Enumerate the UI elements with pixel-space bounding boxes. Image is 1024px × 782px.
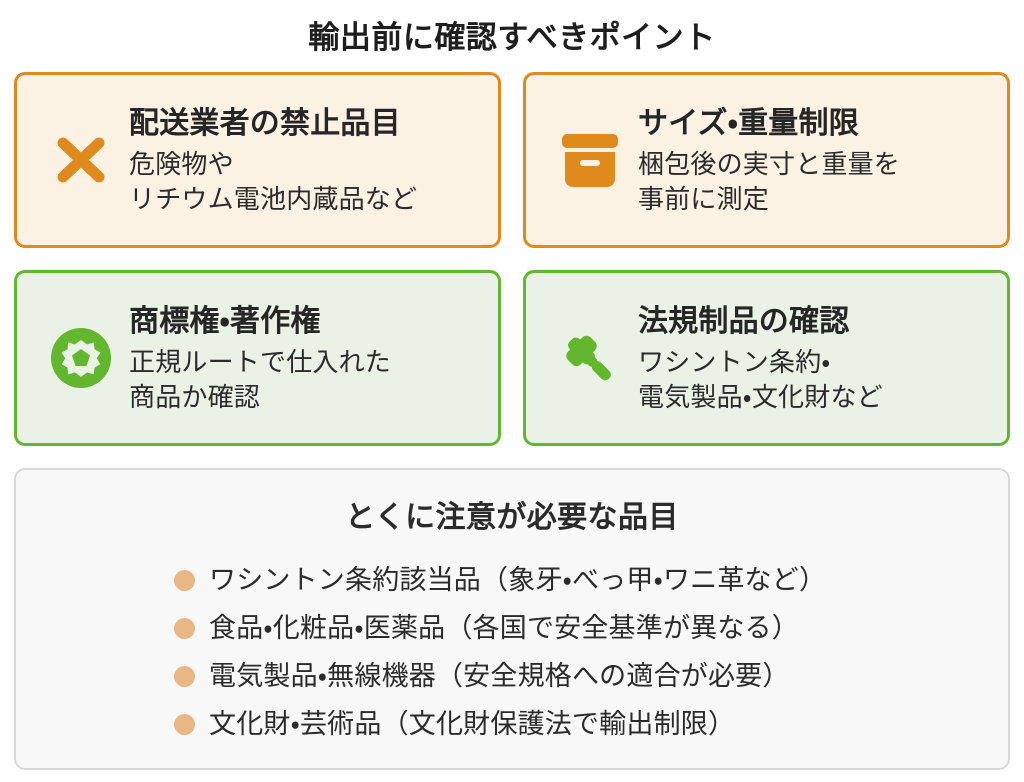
- card-body-line-2: 商品か確認: [129, 380, 480, 415]
- card-trademark-copyright: 商標権・著作権 正規ルートで仕入れた 商品か確認: [14, 270, 501, 446]
- card-body-line-2: 事前に測定: [638, 182, 989, 217]
- card-prohibited-items: 配送業者の禁止品目 危険物や リチウム電池内蔵品など: [14, 72, 501, 248]
- card-text: 商標権・著作権 正規ルートで仕入れた 商品か確認: [129, 301, 480, 415]
- bullet-dot-icon: [174, 570, 195, 591]
- list-item-label: 文化財・芸術品（文化財保護法で輸出制限）: [209, 708, 735, 740]
- card-title: 法規制品の確認: [638, 303, 989, 341]
- card-body-line-1: ワシントン条約・: [638, 345, 989, 380]
- bullet-dot-icon: [174, 618, 195, 639]
- gear-circle-icon: [33, 310, 129, 406]
- list-item: 文化財・芸術品（文化財保護法で輸出制限）: [174, 700, 988, 748]
- bullet-dot-icon: [174, 714, 195, 735]
- card-text: 配送業者の禁止品目 危険物や リチウム電池内蔵品など: [129, 103, 480, 217]
- list-item-label: 電気製品・無線機器（安全規格への適合が必要）: [209, 660, 790, 692]
- list-item: 電気製品・無線機器（安全規格への適合が必要）: [174, 652, 988, 700]
- card-title: 配送業者の禁止品目: [129, 105, 480, 143]
- card-regulated-products: 法規制品の確認 ワシントン条約・ 電気製品・文化財など: [523, 270, 1010, 446]
- notice-item-list: ワシントン条約該当品（象牙・べっ甲・ワニ革など） 食品・化粧品・医薬品（各国で安…: [36, 556, 988, 748]
- cross-mark-icon: [33, 112, 129, 208]
- list-item-label: 食品・化粧品・医薬品（各国で安全基準が異なる）: [209, 612, 799, 644]
- box-archive-icon: [542, 112, 638, 208]
- checkpoint-card-grid: 配送業者の禁止品目 危険物や リチウム電池内蔵品など サイズ・重量制限 梱包後の…: [14, 72, 1010, 446]
- infographic-page: 輸出前に確認すべきポイント 配送業者の禁止品目 危険物や リチウム電池内蔵品など: [0, 0, 1024, 782]
- card-body-line-2: 電気製品・文化財など: [638, 380, 989, 415]
- card-text: 法規制品の確認 ワシントン条約・ 電気製品・文化財など: [638, 301, 989, 415]
- special-attention-panel: とくに注意が必要な品目 ワシントン条約該当品（象牙・べっ甲・ワニ革など） 食品・…: [14, 468, 1010, 770]
- card-title: サイズ・重量制限: [638, 105, 989, 143]
- page-title: 輸出前に確認すべきポイント: [14, 0, 1010, 62]
- notice-panel-heading: とくに注意が必要な品目: [36, 492, 988, 536]
- list-item: ワシントン条約該当品（象牙・べっ甲・ワニ革など）: [174, 556, 988, 604]
- list-item: 食品・化粧品・医薬品（各国で安全基準が異なる）: [174, 604, 988, 652]
- card-body-line-2: リチウム電池内蔵品など: [129, 182, 480, 217]
- bullet-dot-icon: [174, 666, 195, 687]
- card-body-line-1: 危険物や: [129, 147, 480, 182]
- card-text: サイズ・重量制限 梱包後の実寸と重量を 事前に測定: [638, 103, 989, 217]
- gavel-icon: [542, 310, 638, 406]
- card-body-line-1: 梱包後の実寸と重量を: [638, 147, 989, 182]
- list-item-label: ワシントン条約該当品（象牙・べっ甲・ワニ革など）: [209, 564, 826, 596]
- card-title: 商標権・著作権: [129, 303, 480, 341]
- card-body-line-1: 正規ルートで仕入れた: [129, 345, 480, 380]
- card-size-weight-limit: サイズ・重量制限 梱包後の実寸と重量を 事前に測定: [523, 72, 1010, 248]
